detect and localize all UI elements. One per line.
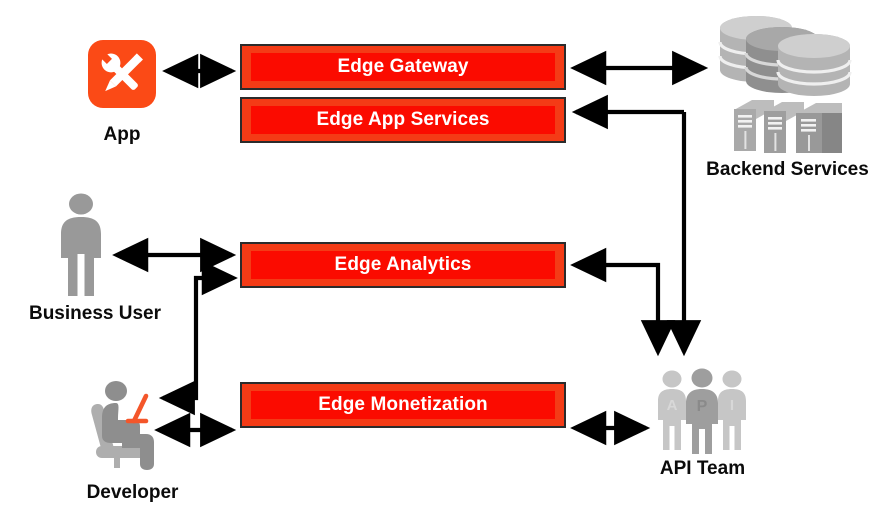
api-letter-a: A (667, 397, 678, 414)
person-left: A (658, 371, 686, 451)
connector-edge-analytics-to-api-team (576, 265, 658, 352)
api-team-caption: API Team (620, 458, 785, 480)
people-group-icon: A I P (650, 366, 754, 456)
box-edge-app-services[interactable]: Edge App Services (240, 97, 566, 143)
server-boxes (734, 100, 842, 153)
backend-services-caption: Backend Services (690, 159, 885, 181)
person-center: P (686, 369, 718, 455)
person-right: I (718, 371, 746, 451)
box-edge-app-services-inner: Edge App Services (251, 106, 555, 134)
app-caption: App (88, 124, 156, 146)
api-letter-i: I (730, 397, 734, 414)
db-cyl-right (778, 34, 850, 96)
box-edge-gateway-label: Edge Gateway (337, 56, 468, 78)
box-edge-app-services-label: Edge App Services (316, 109, 489, 131)
box-edge-analytics[interactable]: Edge Analytics (240, 242, 566, 288)
box-edge-analytics-inner: Edge Analytics (251, 251, 555, 279)
box-edge-monetization[interactable]: Edge Monetization (240, 382, 566, 428)
architecture-diagram: App (0, 0, 885, 517)
box-edge-monetization-inner: Edge Monetization (251, 391, 555, 419)
app-tools-icon (88, 40, 156, 108)
api-letter-p: P (697, 398, 708, 415)
person-standing-icon (48, 192, 114, 300)
box-edge-gateway-inner: Edge Gateway (251, 53, 555, 81)
business-user-caption: Business User (10, 303, 180, 325)
box-edge-gateway[interactable]: Edge Gateway (240, 44, 566, 90)
box-edge-analytics-label: Edge Analytics (335, 254, 472, 276)
box-edge-monetization-label: Edge Monetization (318, 394, 488, 416)
developer-caption: Developer (60, 482, 205, 504)
database-server-icon (712, 8, 862, 153)
person-seated-laptop-icon (88, 378, 176, 470)
